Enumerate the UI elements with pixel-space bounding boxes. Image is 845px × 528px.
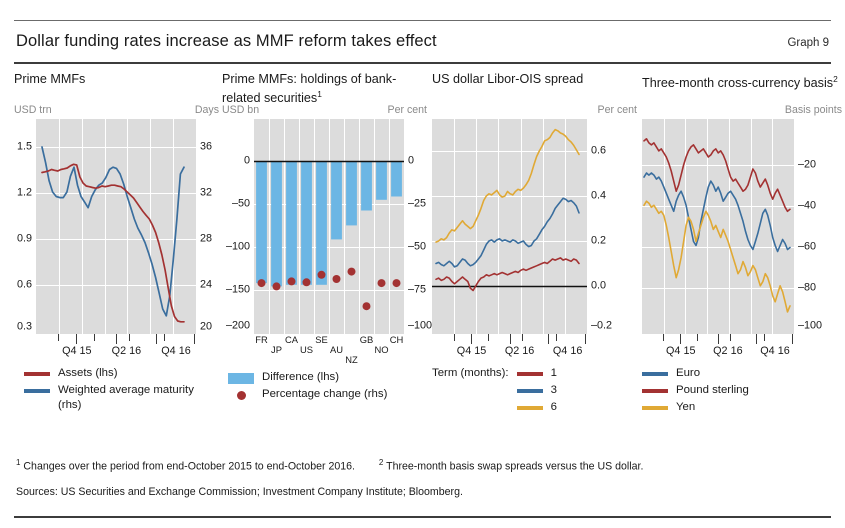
legend-item-yen: Yen — [642, 400, 842, 415]
x-tick-minor-0 — [58, 334, 59, 341]
y-tick-right-4: –100 — [798, 321, 822, 332]
legend-item-euro: Euro — [642, 366, 842, 381]
category-label-ch: CH — [390, 334, 404, 345]
x-tick-major-2 — [756, 334, 757, 344]
y-axis-right-unit: Days — [195, 104, 219, 116]
page-title: Dollar funding rates increase as MMF ref… — [16, 32, 437, 51]
y-axis-right-unit: Per cent — [388, 104, 427, 116]
x-tick-label-2: Q4 16 — [553, 345, 582, 357]
panel-title-text: Prime MMFs: holdings of bank-related sec… — [222, 72, 396, 105]
y-axis-right-unit: Basis points — [785, 104, 842, 116]
footnote-ref-2: 2 — [833, 74, 838, 84]
category-label-au: AU — [330, 344, 343, 355]
footnote-text-1: Changes over the period from end-October… — [23, 461, 355, 473]
bottom-rule — [14, 516, 831, 518]
legend-swatch-difference — [228, 373, 254, 384]
legend-item-term-1-label: 1 — [551, 366, 557, 381]
category-axis: FRJPCAUSSEAUNZGBNOCH — [254, 334, 404, 368]
x-tick-minor-3 — [764, 334, 765, 341]
y-tick-right-2: 0.2 — [591, 236, 606, 247]
x-tick-minor-1 — [697, 334, 698, 341]
legend-title: Term (months): — [432, 366, 509, 417]
legend-item-euro-label: Euro — [676, 366, 700, 381]
panel-title: US dollar Libor-OIS spread — [432, 72, 637, 104]
legend-swatch-percentage-change — [228, 390, 254, 401]
graph-number: Graph 9 — [787, 37, 829, 49]
y-tick-left-4: 0.3 — [17, 322, 32, 333]
y-tick-left-1: 1.2 — [17, 188, 32, 199]
y-tick-right-0: 0.6 — [591, 146, 606, 157]
footnotes-line: 1 Changes over the period from end-Octob… — [16, 458, 829, 473]
x-tick-major-3 — [194, 334, 195, 344]
legend-item-weighted-average-maturity: Weighted average maturity (rhs) — [24, 383, 219, 413]
panel-title: Prime MMFs — [14, 72, 219, 104]
footnote-marker-2: 2 — [379, 458, 383, 467]
title-rule — [14, 62, 831, 64]
panel-title: Three-month cross-currency basis2 — [642, 72, 842, 104]
y-tick-right-2: –50 — [408, 242, 426, 253]
y-tick-right-4: –0.2 — [591, 321, 612, 332]
x-axis: Q4 15Q2 16Q4 16 — [432, 334, 587, 364]
legend-item-difference: Difference (lhs) — [228, 370, 427, 385]
legend-swatch-assets — [24, 372, 50, 376]
graph-page: Dollar funding rates increase as MMF ref… — [0, 0, 845, 528]
panel-title-text: Three-month cross-currency basis — [642, 76, 833, 90]
x-tick-label-2: Q4 16 — [161, 345, 190, 357]
x-tick-major-0 — [680, 334, 681, 344]
legend-swatch-term-1 — [517, 372, 543, 376]
x-tick-label-0: Q4 15 — [457, 345, 486, 357]
legend-item-assets-label: Assets (lhs) — [58, 366, 118, 381]
y-tick-left-3: –150 — [226, 285, 250, 296]
y-tick-left-0: 0 — [244, 156, 250, 167]
category-label-us: US — [300, 344, 313, 355]
y-tick-right-0: 0 — [408, 156, 414, 167]
x-tick-label-0: Q4 15 — [62, 345, 91, 357]
panel-cross-currency-basis: Three-month cross-currency basis2 Basis … — [642, 72, 842, 417]
axis-unit-labels: Basis points — [642, 104, 842, 119]
x-tick-label-1: Q2 16 — [505, 345, 534, 357]
y-tick-left-2: 0.9 — [17, 234, 32, 245]
plot-area: 0–50–100–150–2000–25–50–75–100 — [254, 119, 404, 334]
legend-item-term-6: 6 — [517, 400, 557, 415]
legend-swatch-euro — [642, 372, 668, 376]
category-label-nz: NZ — [345, 354, 358, 365]
legend-swatch-wam — [24, 389, 50, 393]
panel-libor-ois-spread: US dollar Libor-OIS spread Per cent 0.60… — [432, 72, 637, 417]
legend-item-yen-label: Yen — [676, 400, 695, 415]
top-rule — [14, 20, 831, 21]
x-tick-major-2 — [156, 334, 157, 344]
x-tick-major-1 — [510, 334, 511, 344]
x-axis: Q4 15Q2 16Q4 16 — [642, 334, 794, 364]
x-tick-label-1: Q2 16 — [112, 345, 141, 357]
y-tick-right-3: –80 — [798, 283, 816, 294]
legend-item-term-3-label: 3 — [551, 383, 557, 398]
y-tick-left-3: 0.6 — [17, 280, 32, 291]
y-axis-left-unit: USD trn — [14, 104, 52, 116]
category-label-ca: CA — [285, 334, 298, 345]
legend-items: 136 — [517, 366, 557, 417]
legend: Assets (lhs)Weighted average maturity (r… — [24, 366, 219, 413]
legend-item-assets: Assets (lhs) — [24, 366, 219, 381]
legend-item-pound-sterling-label: Pound sterling — [676, 383, 749, 398]
axis-unit-labels: Per cent — [432, 104, 637, 119]
x-tick-major-0 — [471, 334, 472, 344]
y-tick-right-4: –100 — [408, 321, 432, 332]
x-tick-minor-1 — [94, 334, 95, 341]
legend: EuroPound sterlingYen — [642, 366, 842, 415]
x-axis: Q4 15Q2 16Q4 16 — [36, 334, 196, 364]
y-tick-right-3: 0.0 — [591, 281, 606, 292]
x-tick-minor-2 — [730, 334, 731, 341]
sources-line: Sources: US Securities and Exchange Comm… — [16, 486, 829, 498]
x-tick-minor-3 — [556, 334, 557, 341]
y-tick-right-2: –60 — [798, 242, 816, 253]
x-tick-major-1 — [116, 334, 117, 344]
legend-item-term-3: 3 — [517, 383, 557, 398]
legend-item-difference-label: Difference (lhs) — [262, 370, 339, 385]
y-axis-right-unit: Per cent — [598, 104, 637, 116]
y-tick-right-2: 28 — [200, 234, 212, 245]
legend-item-term-1: 1 — [517, 366, 557, 381]
x-tick-minor-3 — [164, 334, 165, 341]
footnote-text-2: Three-month basis swap spreads versus th… — [386, 461, 643, 473]
y-tick-right-1: –40 — [798, 201, 816, 212]
legend-item-weighted-average-maturity-label: Weighted average maturity (rhs) — [58, 383, 219, 413]
y-tick-right-3: 24 — [200, 280, 212, 291]
legend: Difference (lhs)Percentage change (rhs) — [228, 370, 427, 402]
footnote-ref-1: 1 — [317, 89, 322, 99]
x-tick-major-1 — [718, 334, 719, 344]
legend-swatch-pound-sterling — [642, 389, 668, 393]
y-tick-left-0: 1.5 — [17, 142, 32, 153]
y-tick-right-1: 0.4 — [591, 191, 606, 202]
legend-swatch-term-6 — [517, 406, 543, 410]
plot-area: –20–40–60–80–100 — [642, 119, 794, 334]
y-tick-right-0: –20 — [798, 160, 816, 171]
panel-prime-mmfs: Prime MMFs USD trn Days 1.51.20.90.60.33… — [14, 72, 219, 415]
legend-swatch-term-3 — [517, 389, 543, 393]
y-tick-right-1: –25 — [408, 199, 426, 210]
x-tick-major-3 — [792, 334, 793, 344]
y-tick-right-0: 36 — [200, 142, 212, 153]
y-tick-right-3: –75 — [408, 285, 426, 296]
x-tick-major-0 — [76, 334, 77, 344]
x-tick-label-0: Q4 15 — [666, 345, 695, 357]
x-tick-minor-0 — [663, 334, 664, 341]
y-axis-left-unit: USD bn — [222, 104, 259, 116]
footnote-marker-1: 1 — [16, 458, 20, 467]
legend-item-percentage-change: Percentage change (rhs) — [228, 387, 427, 402]
x-tick-minor-1 — [488, 334, 489, 341]
y-tick-left-1: –50 — [232, 199, 250, 210]
x-tick-minor-2 — [522, 334, 523, 341]
panel-title: Prime MMFs: holdings of bank-related sec… — [222, 72, 427, 104]
x-tick-label-1: Q2 16 — [713, 345, 742, 357]
y-tick-right-4: 20 — [200, 322, 212, 333]
x-tick-major-2 — [548, 334, 549, 344]
category-label-no: NO — [374, 344, 388, 355]
x-tick-minor-0 — [454, 334, 455, 341]
plot-area: 1.51.20.90.60.33632282420 — [36, 119, 196, 334]
category-label-gb: GB — [360, 334, 374, 345]
legend-item-pound-sterling: Pound sterling — [642, 383, 842, 398]
y-tick-right-1: 32 — [200, 188, 212, 199]
category-label-se: SE — [315, 334, 328, 345]
category-label-fr: FR — [255, 334, 268, 345]
plot-area: 0.60.40.20.0–0.2 — [432, 119, 587, 334]
panel-bank-related-securities: Prime MMFs: holdings of bank-related sec… — [222, 72, 427, 404]
y-tick-left-2: –100 — [226, 242, 250, 253]
legend: Term (months):136 — [432, 366, 637, 417]
axis-unit-labels: USD trn Days — [14, 104, 219, 119]
legend-wrapper: Term (months):136 — [432, 366, 637, 417]
legend-swatch-yen — [642, 406, 668, 410]
x-tick-minor-2 — [129, 334, 130, 341]
axis-unit-labels: USD bn Per cent — [222, 104, 427, 119]
category-label-jp: JP — [271, 344, 282, 355]
legend-item-percentage-change-label: Percentage change (rhs) — [262, 387, 387, 402]
x-tick-major-3 — [585, 334, 586, 344]
legend-item-term-6-label: 6 — [551, 400, 557, 415]
y-tick-left-4: –200 — [226, 321, 250, 332]
x-tick-label-2: Q4 16 — [760, 345, 789, 357]
